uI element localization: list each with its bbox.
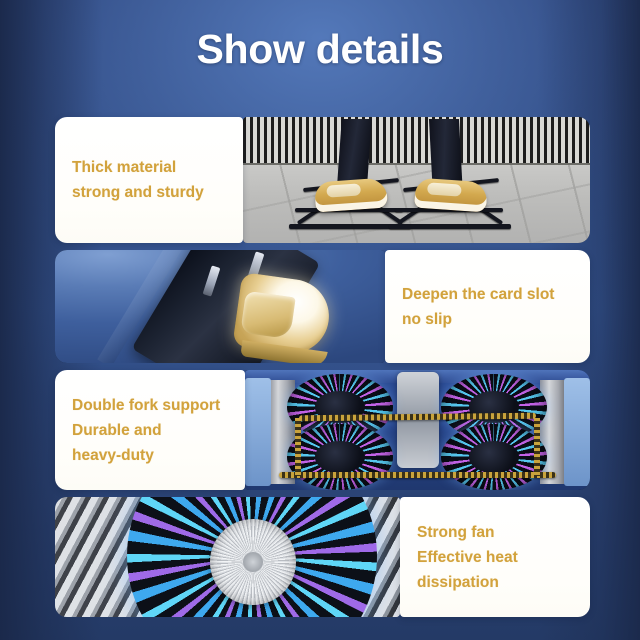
caption-line: heavy-duty: [72, 443, 245, 468]
feature-row-3: Double fork support Durable and heavy-du…: [55, 370, 590, 490]
rgb-fan-bottom-right: [441, 424, 547, 490]
feet-standing-on-two-laptop-stands-photo: [243, 117, 590, 243]
caption-line: Durable and: [72, 418, 245, 443]
brushed-metal-hub: [210, 519, 296, 605]
feature-row-4: Strong fan Effective heat dissipation: [55, 497, 590, 617]
chain-brace-lower: [279, 472, 556, 478]
tan-sneaker-right: [414, 178, 488, 213]
feature-row-2: Deepen the card slot no slip: [55, 250, 590, 363]
caption-card-1: Thick material strong and sturdy: [55, 117, 243, 243]
caption-line: Effective heat: [417, 545, 590, 570]
caption-line: Double fork support: [72, 393, 245, 418]
single-rgb-fan-macro-photo: [55, 497, 400, 617]
chain-brace-left: [295, 418, 301, 476]
page-title: Show details: [0, 26, 640, 73]
four-rgb-fans-under-stand-photo: [245, 370, 590, 490]
feature-row-1: Thick material strong and sturdy: [55, 117, 590, 243]
side-panel-right: [564, 378, 590, 486]
caption-card-2: Deepen the card slot no slip: [385, 250, 590, 363]
caption-line: Thick material: [72, 155, 243, 180]
show-details-infographic: Show details Thick material strong and s…: [0, 0, 640, 640]
striped-wall: [243, 117, 590, 165]
chain-brace-right: [534, 418, 540, 476]
caption-card-4: Strong fan Effective heat dissipation: [400, 497, 590, 617]
rgb-fan-bottom-left: [287, 424, 393, 490]
caption-line: Strong fan: [417, 520, 590, 545]
stand-bar: [389, 224, 511, 229]
caption-card-3: Double fork support Durable and heavy-du…: [55, 370, 245, 490]
caption-line: dissipation: [417, 570, 590, 595]
caption-line: Deepen the card slot: [402, 282, 590, 307]
deepened-card-slot-closeup-photo: [55, 250, 385, 363]
caption-line: no slip: [402, 307, 590, 332]
side-panel-left: [245, 378, 271, 486]
caption-line: strong and sturdy: [72, 180, 243, 205]
tan-sneaker-left: [314, 178, 388, 213]
